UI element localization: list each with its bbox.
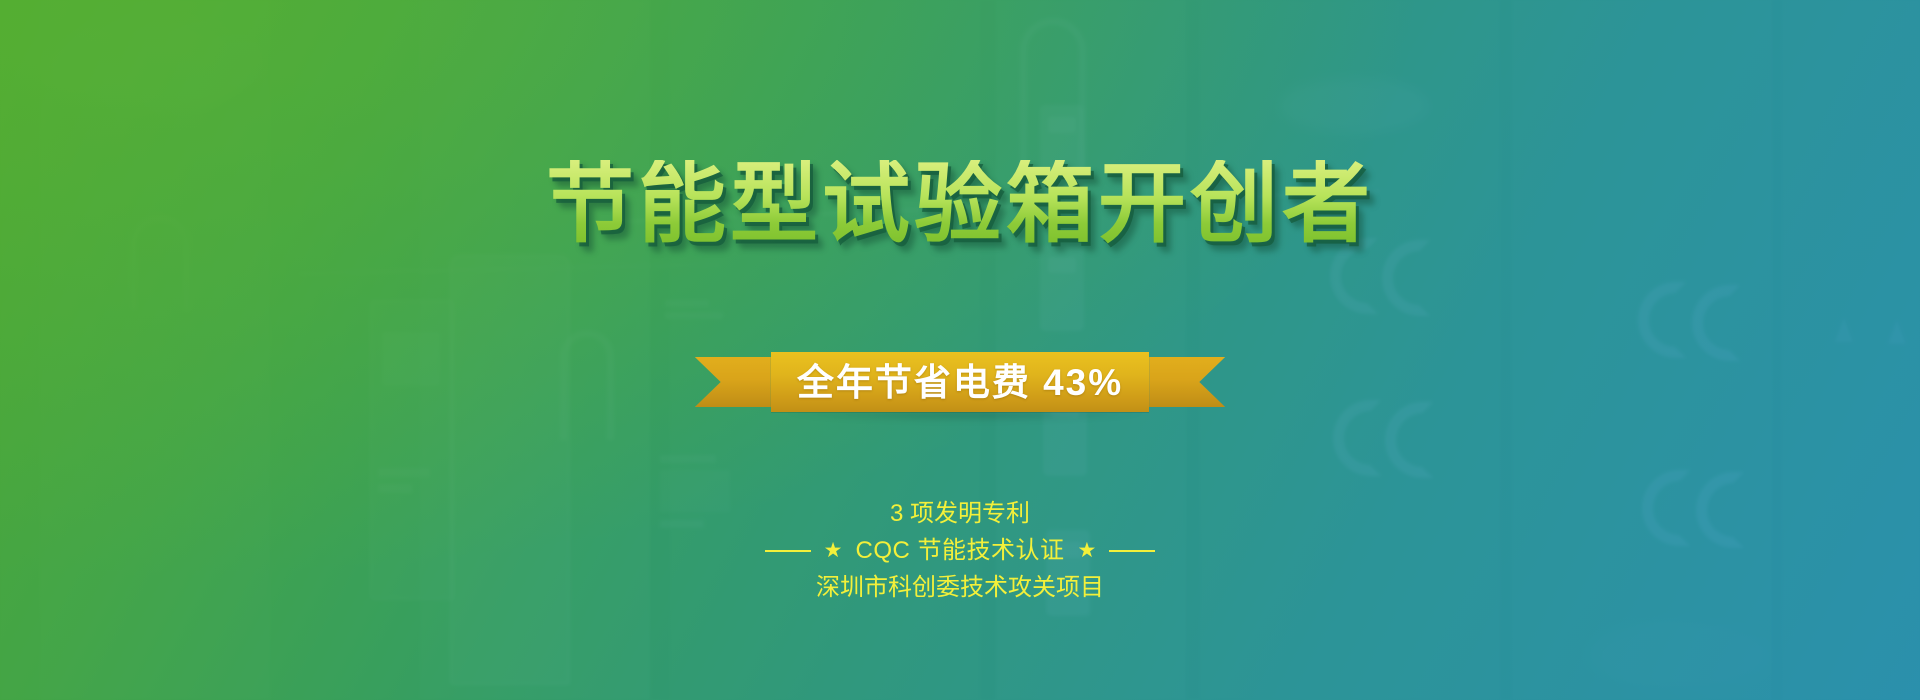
banner-content: 节能型试验箱开创者 全年节省电费 43% 3 项发明专利 ★ CQC 节能技术认… bbox=[0, 0, 1920, 700]
ribbon-tail-left-icon bbox=[695, 357, 771, 407]
rule-left-icon bbox=[765, 550, 811, 552]
credit-line-patents: 3 项发明专利 bbox=[0, 495, 1920, 532]
credit-line-project: 深圳市科创委技术攻关项目 bbox=[0, 569, 1920, 606]
promo-banner: 节能型试验箱开创者 全年节省电费 43% 3 项发明专利 ★ CQC 节能技术认… bbox=[0, 0, 1920, 700]
ribbon-tail-right-icon bbox=[1149, 357, 1225, 407]
credentials-block: 3 项发明专利 ★ CQC 节能技术认证 ★ 深圳市科创委技术攻关项目 bbox=[0, 495, 1920, 607]
credit-line-certification: ★ CQC 节能技术认证 ★ bbox=[0, 532, 1920, 569]
certification-label: CQC 节能技术认证 bbox=[856, 532, 1065, 569]
ribbon-drop-shadow bbox=[760, 412, 1170, 426]
ribbon-body: 全年节省电费 43% bbox=[771, 352, 1149, 412]
page-title: 节能型试验箱开创者 bbox=[0, 160, 1920, 248]
ribbon-label: 全年节省电费 43% bbox=[797, 364, 1123, 401]
rule-right-icon bbox=[1109, 550, 1155, 552]
star-left-icon: ★ bbox=[824, 540, 843, 561]
star-right-icon: ★ bbox=[1078, 540, 1097, 561]
savings-ribbon: 全年节省电费 43% bbox=[0, 352, 1920, 412]
